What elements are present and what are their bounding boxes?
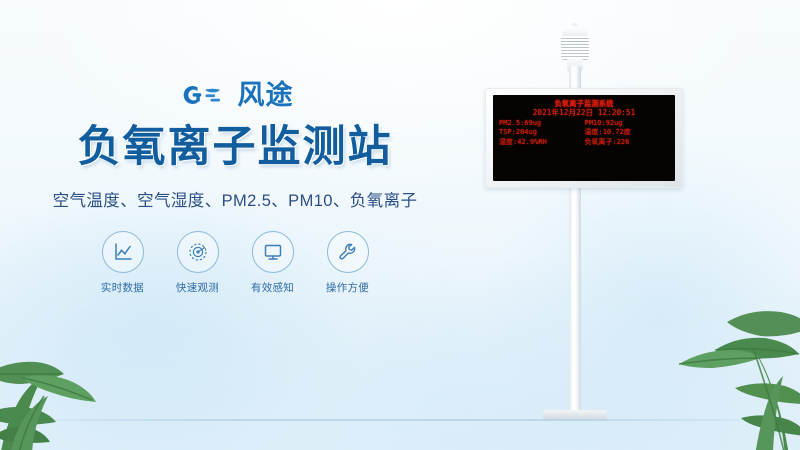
ground-line	[0, 419, 800, 421]
feature-label: 有效感知	[244, 280, 302, 295]
hero-text-panel: 风途 负氧离子监测站 空气温度、空气湿度、PM2.5、PM10、负氧离子 实时数…	[0, 78, 470, 295]
feature-icon-ring	[177, 231, 219, 273]
feature-label: 快速观测	[169, 280, 227, 295]
feature-icon-ring	[252, 231, 294, 273]
brand-name: 风途	[238, 82, 294, 109]
wrench-icon	[337, 241, 359, 263]
monitor-icon	[262, 241, 284, 263]
led-display-title: 负氧离子监测系统	[498, 99, 670, 108]
ft-cloud-mark-icon	[177, 82, 231, 108]
led-display-panel[interactable]: 负氧离子监测系统 2021年12月22日 12:20:51 PM2.5:69ug…	[485, 88, 683, 188]
promo-banner: 风途 负氧离子监测站 空气温度、空气湿度、PM2.5、PM10、负氧离子 实时数…	[0, 0, 800, 450]
plant-leaves-icon	[671, 288, 800, 450]
line-chart-icon	[112, 241, 134, 263]
feature-list: 实时数据 快速观测	[0, 231, 470, 295]
led-reading-row: 湿度:42.9%RH 负氧离子:226	[498, 138, 670, 148]
feature-label: 操作方便	[319, 280, 377, 295]
led-reading-pm10: PM10:92ug	[585, 119, 671, 129]
led-reading-tsp: TSP:204ug	[499, 128, 585, 138]
radar-scan-icon	[187, 241, 209, 263]
led-reading-pm25: PM2.5:69ug	[499, 119, 585, 129]
feature-item-fast-observation[interactable]: 快速观测	[169, 231, 227, 295]
led-reading-negative-oxygen-ions: 负氧离子:226	[585, 138, 671, 148]
feature-item-realtime-data[interactable]: 实时数据	[94, 231, 152, 295]
led-display-datetime: 2021年12月22日 12:20:51	[498, 108, 670, 119]
hero-subtitle: 空气温度、空气湿度、PM2.5、PM10、负氧离子	[0, 187, 470, 211]
background-glow-center	[300, 300, 640, 450]
led-reading-row: TSP:204ug 温度:10.72度	[498, 128, 670, 138]
feature-item-easy-operation[interactable]: 操作方便	[319, 231, 377, 295]
led-reading-temperature: 温度:10.72度	[585, 128, 671, 138]
led-reading-humidity: 湿度:42.9%RH	[499, 138, 585, 148]
feature-item-effective-sensing[interactable]: 有效感知	[244, 231, 302, 295]
feature-label: 实时数据	[94, 280, 152, 295]
page-title: 负氧离子监测站	[0, 125, 470, 170]
sensor-louvers	[561, 36, 589, 60]
feature-icon-ring	[327, 231, 369, 273]
feature-icon-ring	[102, 231, 144, 273]
brand-logo: 风途	[0, 78, 470, 112]
led-screen: 负氧离子监测系统 2021年12月22日 12:20:51 PM2.5:69ug…	[493, 95, 675, 181]
led-reading-row: PM2.5:69ug PM10:92ug	[498, 119, 670, 129]
plant-leaves-icon	[0, 312, 142, 450]
